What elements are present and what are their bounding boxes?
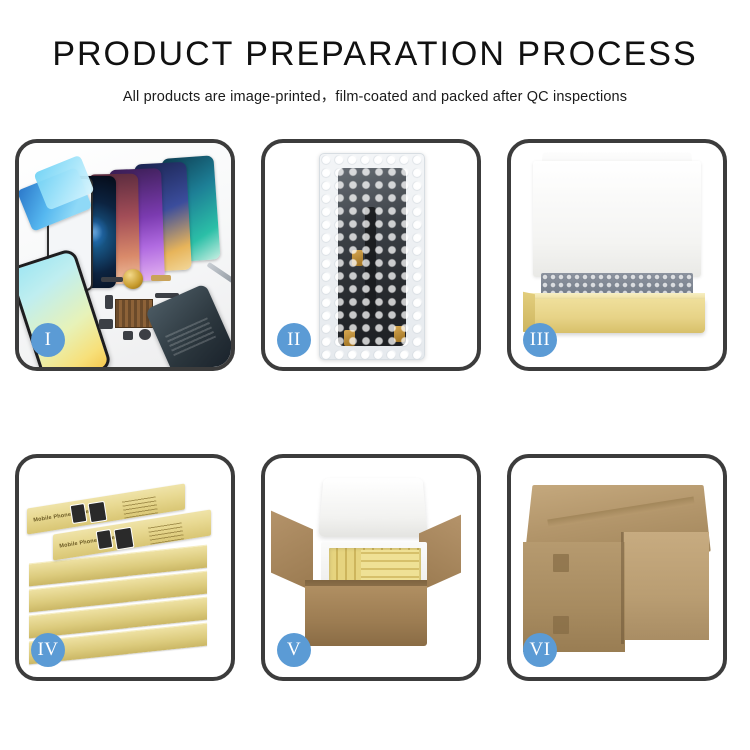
step-badge-6: VI [523, 633, 557, 667]
gold-connector-icon [394, 326, 405, 342]
foam-box-lid [318, 478, 427, 537]
step-badge-3: III [523, 323, 557, 357]
box-artwork-screen [88, 501, 108, 523]
box-spec-text-lines [148, 521, 184, 544]
flex-cable-icon [101, 277, 123, 282]
process-steps-grid: I II [15, 139, 735, 681]
carton-tape-mark [553, 554, 569, 572]
carton-side-panel [623, 532, 709, 640]
box-artwork-screen [96, 529, 114, 550]
packed-retail-boxes [361, 550, 419, 584]
process-step-panel-5: V [261, 454, 481, 681]
flex-cable-icon [151, 275, 171, 281]
gold-connector-icon [344, 330, 355, 346]
box-artwork-screen [70, 503, 88, 524]
process-step-panel-6: VI [507, 454, 727, 681]
process-step-panel-3: III [507, 139, 727, 371]
carton-front-panel [305, 586, 427, 646]
step-badge-2: II [277, 323, 311, 357]
page-title: PRODUCT PREPARATION PROCESS [0, 36, 750, 73]
product-preparation-page: PRODUCT PREPARATION PROCESS All products… [0, 0, 750, 750]
yellow-box-base [529, 299, 705, 333]
small-part-icon [105, 295, 113, 309]
small-part-icon [99, 319, 113, 329]
carton-corner-edge [621, 532, 624, 644]
wrapped-display-assembly [338, 168, 406, 346]
step-badge-4: IV [31, 633, 65, 667]
taptic-engine-icon [123, 269, 143, 289]
box-spec-text-lines [122, 495, 158, 518]
process-step-panel-4: Mobile Phone Spare Parts Mobile Phone Sp… [15, 454, 235, 681]
process-step-panel-1: I [15, 139, 235, 371]
process-step-panel-2: II [261, 139, 481, 371]
gold-connector-icon [352, 250, 363, 266]
bubble-wrap-pack-icon [319, 153, 425, 360]
step-badge-1: I [31, 323, 65, 357]
foam-sheet-lid [533, 161, 701, 277]
page-subtitle: All products are image-printed，film-coat… [0, 85, 750, 106]
carton-tape-mark [553, 616, 569, 634]
box-artwork-screen [113, 527, 134, 551]
speaker-icon [139, 329, 151, 340]
page-header: PRODUCT PREPARATION PROCESS All products… [0, 0, 750, 106]
small-part-icon [123, 331, 133, 340]
step-badge-5: V [277, 633, 311, 667]
